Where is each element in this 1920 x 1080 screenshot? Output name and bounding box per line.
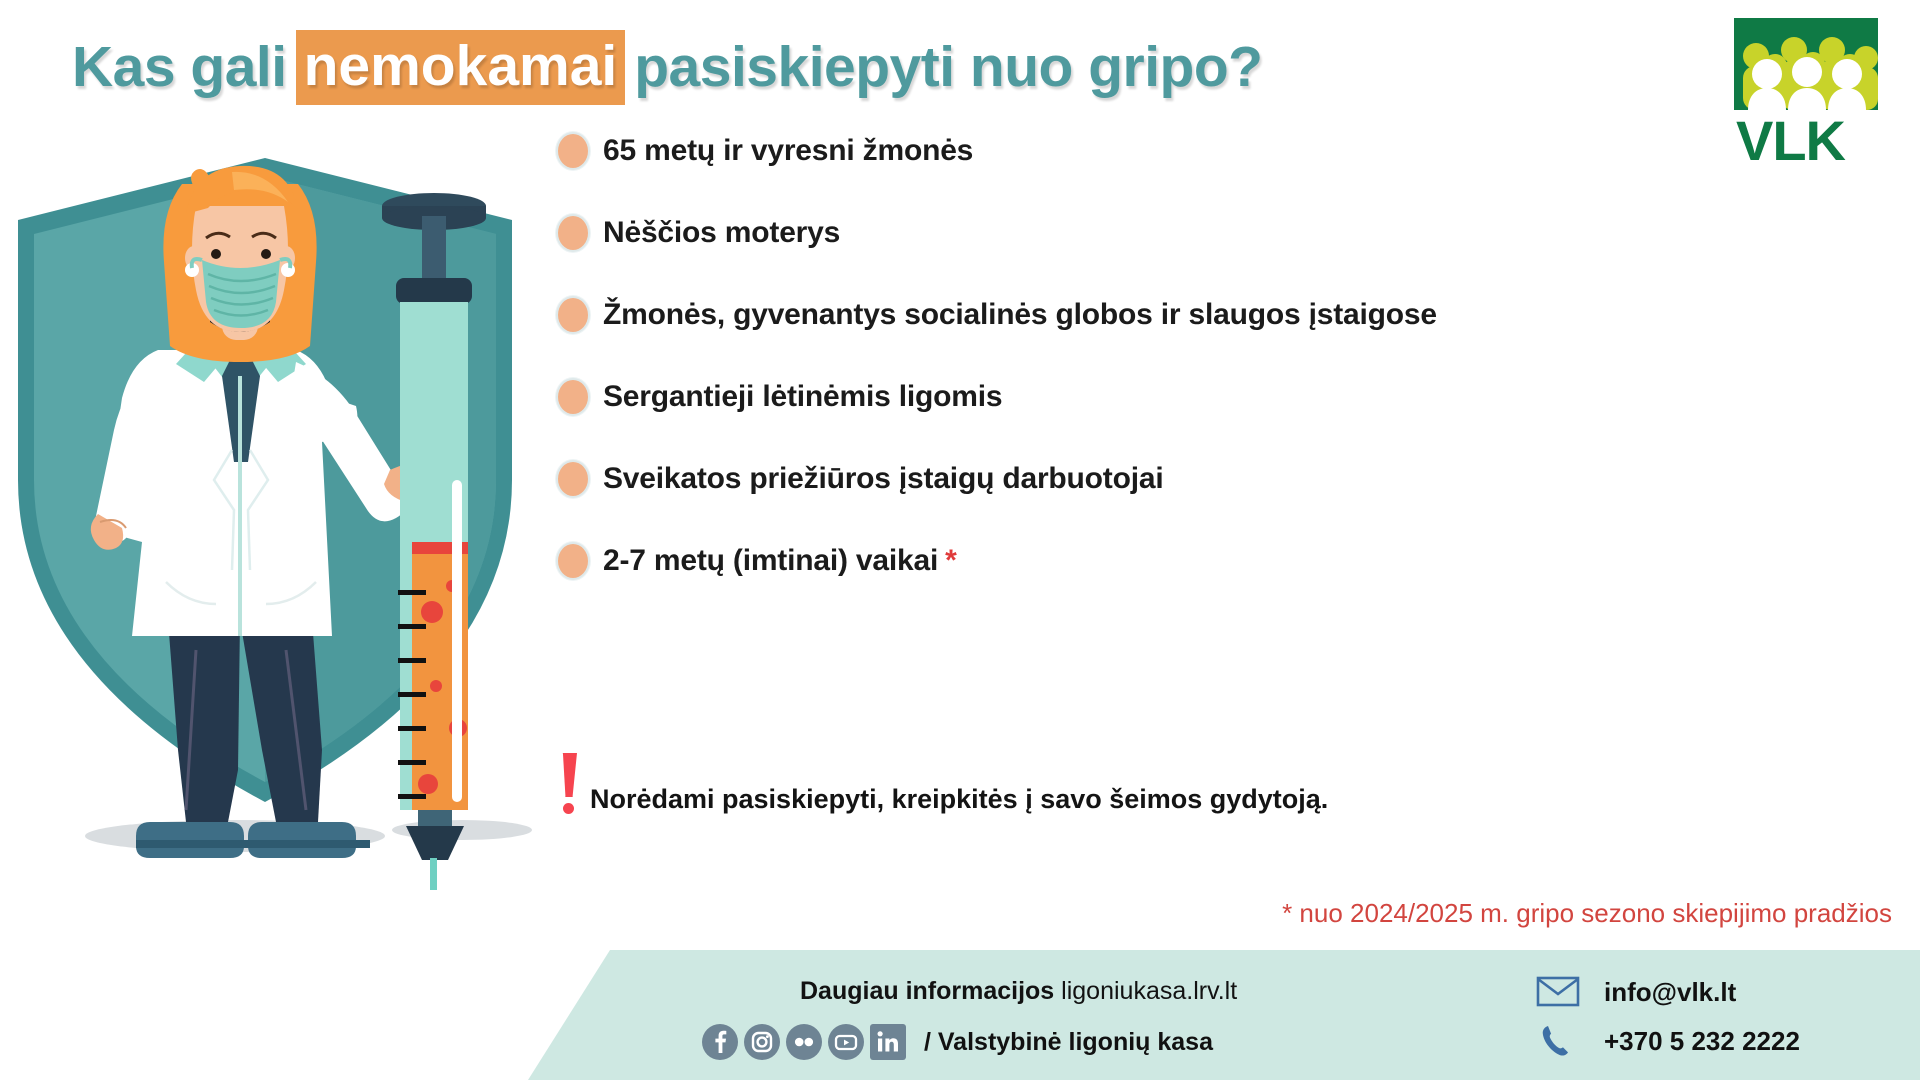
linkedin-icon[interactable] bbox=[870, 1024, 906, 1060]
list-item: 65 metų ir vyresni žmonės bbox=[556, 122, 1886, 180]
infographic-canvas: Kas gali nemokamai pasiskiepyti nuo grip… bbox=[0, 0, 1920, 1080]
title-part-1: Kas gali bbox=[72, 39, 287, 96]
list-item-label: 65 metų ir vyresni žmonės bbox=[603, 134, 973, 168]
list-item: Sergantieji lėtinėmis ligomis bbox=[556, 368, 1886, 426]
page-title: Kas gali nemokamai pasiskiepyti nuo grip… bbox=[72, 30, 1262, 105]
footer-bar bbox=[0, 950, 1920, 1080]
list-item: Nėščios moterys bbox=[556, 204, 1886, 262]
footnote: * nuo 2024/2025 m. gripo sezono skiepiji… bbox=[1282, 898, 1892, 929]
bullet-dot-icon bbox=[556, 460, 590, 498]
more-info-line: Daugiau informacijos ligoniukasa.lrv.lt bbox=[800, 977, 1237, 1006]
social-handle: / Valstybinė ligonių kasa bbox=[924, 1028, 1213, 1057]
title-part-2: pasiskiepyti nuo gripo? bbox=[634, 39, 1262, 96]
warning-note: Norėdami pasiskiepyti, kreipkitės į savo… bbox=[556, 753, 1328, 815]
bullet-dot-icon bbox=[556, 214, 590, 252]
list-item: Sveikatos priežiūros įstaigų darbuotojai bbox=[556, 450, 1886, 508]
warning-text: Norėdami pasiskiepyti, kreipkitės į savo… bbox=[590, 785, 1328, 815]
phone-value: +370 5 232 2222 bbox=[1604, 1026, 1800, 1057]
bullet-dot-icon bbox=[556, 378, 590, 416]
list-item-star: * bbox=[945, 544, 957, 578]
bullet-dot-icon bbox=[556, 296, 590, 334]
list-item-label: Sergantieji lėtinėmis ligomis bbox=[603, 380, 1002, 414]
list-item: 2-7 metų (imtinai) vaikai * bbox=[556, 532, 1886, 590]
title-highlight: nemokamai bbox=[296, 30, 626, 105]
social-links: / Valstybinė ligonių kasa bbox=[702, 1024, 1213, 1060]
list-item: Žmonės, gyvenantys socialinės globos ir … bbox=[556, 286, 1886, 344]
facebook-icon[interactable] bbox=[702, 1024, 738, 1060]
phone-contact[interactable]: +370 5 232 2222 bbox=[1536, 1023, 1800, 1059]
email-value: info@vlk.lt bbox=[1604, 977, 1736, 1008]
flickr-icon[interactable] bbox=[786, 1024, 822, 1060]
email-contact[interactable]: info@vlk.lt bbox=[1536, 974, 1736, 1010]
illustration-doctor-shield-syringe bbox=[0, 150, 560, 890]
list-item-label: Sveikatos priežiūros įstaigų darbuotojai bbox=[603, 462, 1163, 496]
bullet-dot-icon bbox=[556, 542, 590, 580]
instagram-icon[interactable] bbox=[744, 1024, 780, 1060]
list-item-label: 2-7 metų (imtinai) vaikai bbox=[603, 544, 938, 578]
youtube-icon[interactable] bbox=[828, 1024, 864, 1060]
phone-icon bbox=[1536, 1023, 1580, 1059]
exclamation-icon bbox=[556, 753, 582, 815]
bullet-dot-icon bbox=[556, 132, 590, 170]
eligibility-list: 65 metų ir vyresni žmonės Nėščios motery… bbox=[556, 122, 1886, 614]
website-link[interactable]: ligoniukasa.lrv.lt bbox=[1061, 977, 1237, 1005]
list-item-label: Žmonės, gyvenantys socialinės globos ir … bbox=[603, 298, 1437, 332]
list-item-label: Nėščios moterys bbox=[603, 216, 840, 250]
more-info-label: Daugiau informacijos bbox=[800, 977, 1054, 1005]
envelope-icon bbox=[1536, 974, 1580, 1010]
